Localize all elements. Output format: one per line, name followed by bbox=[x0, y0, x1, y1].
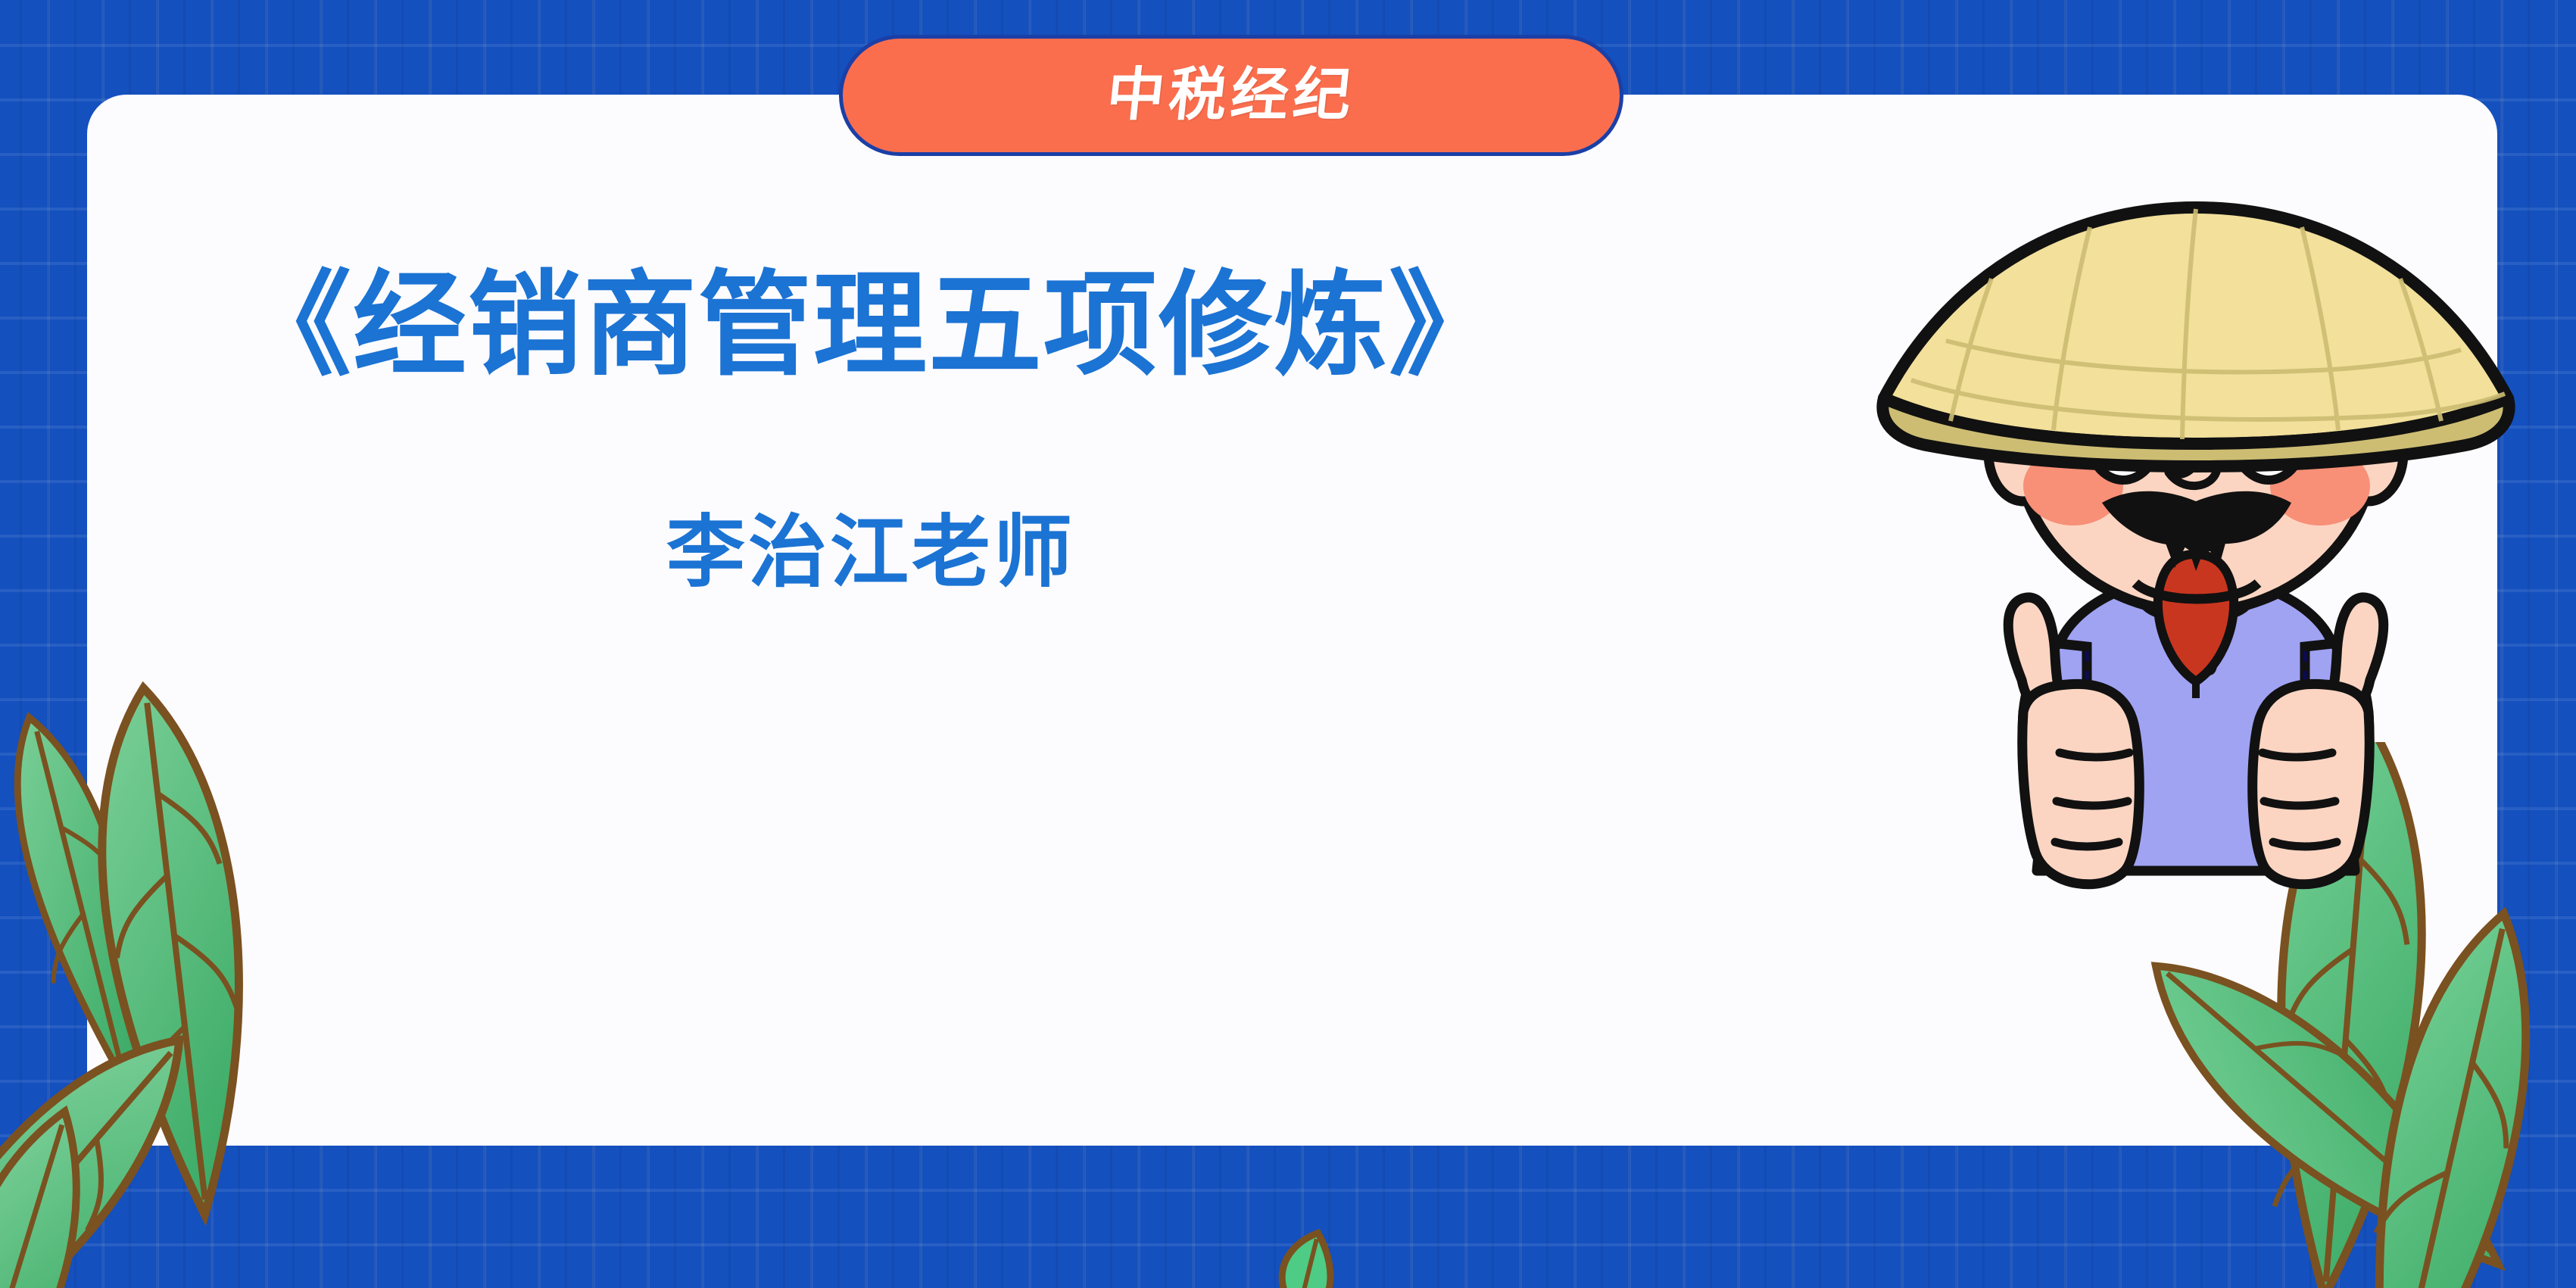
title-block: 《经销商管理五项修炼》 李治江老师 bbox=[151, 250, 1590, 600]
brand-badge-label: 中税经纪 bbox=[1104, 67, 1358, 124]
page-title: 《经销商管理五项修炼》 bbox=[151, 250, 1590, 400]
brand-badge: 中税经纪 bbox=[839, 35, 1623, 156]
leaf-decoration-center bbox=[1242, 1227, 1363, 1288]
slide-canvas: 中税经纪 《经销商管理五项修炼》 李治江老师 bbox=[0, 0, 2576, 1288]
speaker-name: 李治江老师 bbox=[151, 506, 1590, 600]
